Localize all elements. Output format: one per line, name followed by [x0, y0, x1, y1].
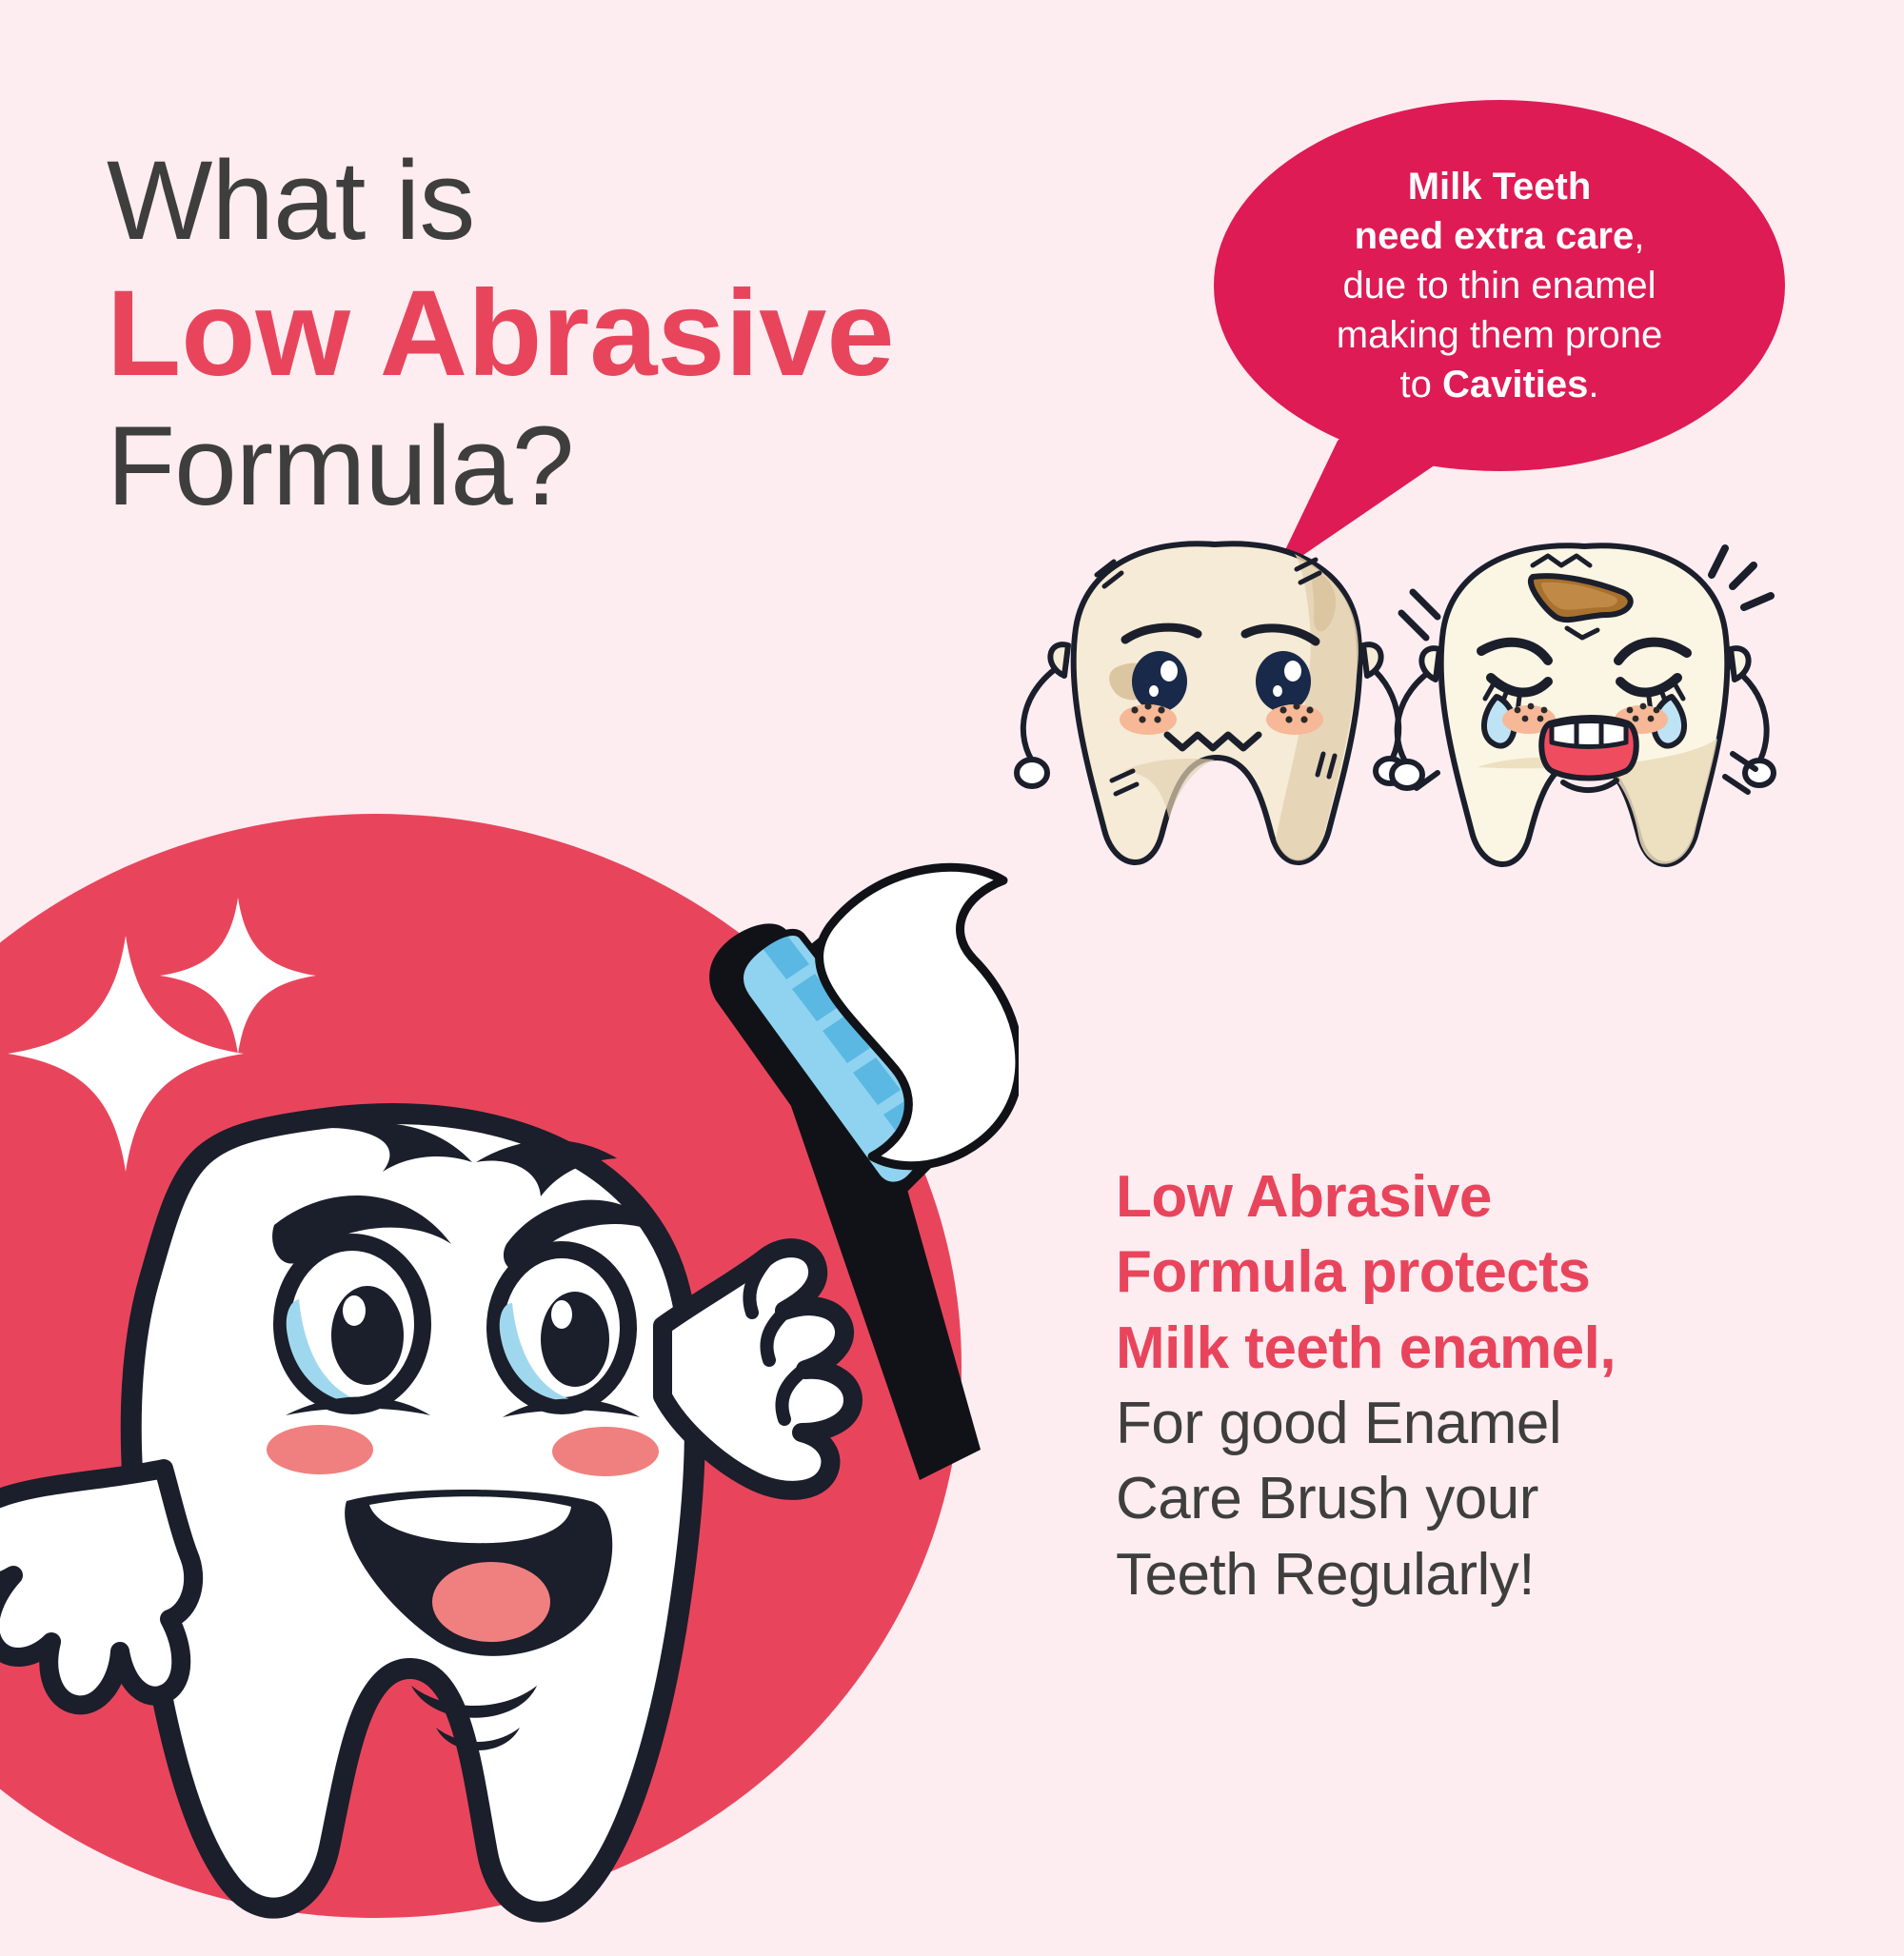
body-copy-line-2: Formula protects: [1116, 1235, 1820, 1310]
bubble-line-1: Milk Teeth: [1408, 166, 1592, 207]
crying-cavity-tooth: [1392, 545, 1774, 864]
speech-bubble-body: Milk Teeth need extra care, due to thin …: [1214, 100, 1785, 471]
bubble-line-5-bold: Cavities: [1442, 364, 1588, 405]
bubble-line-5-suffix: .: [1588, 364, 1598, 405]
body-copy-line-6: Teeth Regularly!: [1116, 1537, 1820, 1612]
bubble-line-5-prefix: to: [1399, 364, 1441, 405]
body-copy-line-1: Low Abrasive: [1116, 1159, 1820, 1235]
body-copy-line-4: For good Enamel: [1116, 1386, 1820, 1461]
mascot-tooth-body: [0, 1114, 853, 1912]
infographic-canvas: What is Low Abrasive Formula? Milk Teeth…: [0, 0, 1904, 1904]
milk-teeth-pair-illustration: [1009, 533, 1799, 933]
body-copy-line-3: Milk teeth enamel,: [1116, 1311, 1820, 1386]
headline-line-1: What is: [107, 143, 982, 260]
body-copy: Low Abrasive Formula protects Milk teeth…: [1116, 1159, 1820, 1612]
headline-line-3: Formula?: [107, 408, 982, 525]
bubble-line-3: due to thin enamel: [1342, 265, 1656, 306]
bubble-line-4: making them prone: [1337, 314, 1662, 356]
mascot-scene: [0, 814, 1019, 1956]
speech-bubble: Milk Teeth need extra care, due to thin …: [1214, 100, 1785, 547]
bubble-line-2: need extra care: [1355, 215, 1635, 257]
sad-milk-tooth: [1017, 543, 1404, 862]
happy-tooth-mascot: [0, 814, 1019, 1956]
speech-bubble-text: Milk Teeth need extra care, due to thin …: [1293, 162, 1706, 409]
page-title: What is Low Abrasive Formula?: [107, 143, 982, 525]
body-copy-line-5: Care Brush your: [1116, 1461, 1820, 1536]
bubble-line-2-comma: ,: [1634, 215, 1644, 257]
headline-line-2: Low Abrasive: [107, 260, 982, 408]
